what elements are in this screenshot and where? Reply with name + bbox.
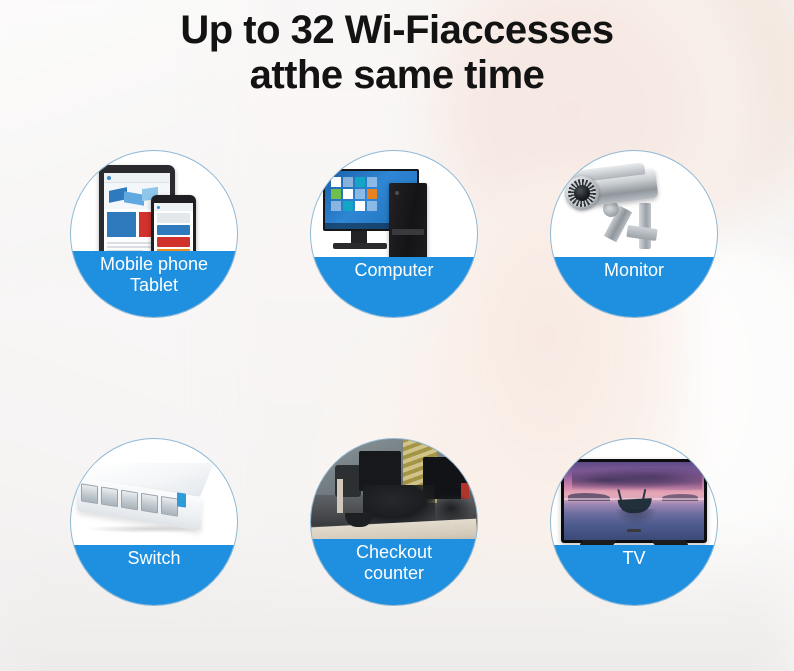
desktop-tile: [355, 189, 365, 199]
desktop-tile: [367, 177, 377, 187]
device-label: Monitor: [604, 260, 664, 281]
device-circle: Switch: [71, 439, 237, 605]
device-label-band: Mobile phone Tablet: [71, 251, 237, 317]
tv-image-reflection: [616, 509, 656, 525]
infographic-stage: Up to 32 Wi-Fiaccesses atthe same time: [0, 0, 794, 671]
device-label-band: Computer: [311, 257, 477, 317]
ethernet-port: [101, 486, 118, 507]
device-label: Checkout counter: [356, 542, 432, 584]
desktop-tile: [331, 201, 341, 211]
desktop-tile: [355, 201, 365, 211]
device-label-band: Monitor: [551, 257, 717, 317]
tower-power-led: [395, 191, 399, 195]
device-item-switch[interactable]: Switch: [71, 439, 237, 605]
device-item-tv[interactable]: TV: [551, 439, 717, 605]
headline-line-2: atthe same time: [0, 53, 794, 98]
desktop-tile: [367, 201, 377, 211]
device-item-monitor[interactable]: Monitor: [551, 151, 717, 317]
device-label: Computer: [354, 260, 433, 281]
device-label-band: Checkout counter: [311, 539, 477, 605]
device-circle: Mobile phone Tablet: [71, 151, 237, 317]
tablet-logo-dot: [107, 176, 111, 180]
device-circle: Monitor: [551, 151, 717, 317]
device-item-mobile-phone-tablet[interactable]: Mobile phone Tablet: [71, 151, 237, 317]
counter-cable-clutter: [363, 485, 435, 523]
desktop-tile: [367, 189, 377, 199]
device-item-checkout-counter[interactable]: Checkout counter: [311, 439, 477, 605]
tv-image-clouds: [572, 468, 702, 490]
desktop-tile: [331, 177, 341, 187]
ethernet-port: [81, 483, 98, 504]
headline-line-1: Up to 32 Wi-Fiaccesses: [0, 8, 794, 53]
device-grid: Mobile phone Tablet: [0, 0, 794, 671]
tower-front-strip: [392, 229, 424, 235]
phone-list-row: [157, 213, 190, 223]
device-label: Mobile phone Tablet: [100, 254, 208, 296]
device-label: TV: [622, 548, 645, 569]
device-label: Switch: [127, 548, 180, 569]
device-circle: TV: [551, 439, 717, 605]
tv-brand-logo: [627, 529, 641, 532]
camera-lens: [574, 185, 590, 201]
ethernet-port: [161, 496, 178, 517]
device-circle: Checkout counter: [311, 439, 477, 605]
switch-power-indicator: [177, 492, 186, 507]
desktop-tile: [355, 177, 365, 187]
desktop-tile: [343, 189, 353, 199]
phone-list-row: [157, 237, 190, 247]
phone-list-row: [157, 225, 190, 235]
counter-pole-stand: [337, 479, 343, 513]
phone-toolbar: [154, 203, 193, 211]
desktop-tile: [343, 201, 353, 211]
tablet-hero-shape-2: [124, 191, 144, 206]
ethernet-port: [141, 493, 158, 514]
device-item-computer[interactable]: Computer: [311, 151, 477, 317]
device-label-band: TV: [551, 545, 717, 605]
device-label-band: Switch: [71, 545, 237, 605]
monitor-stand-base: [333, 243, 387, 249]
tablet-toolbar: [104, 173, 170, 183]
tablet-card-blue: [107, 212, 136, 237]
ethernet-port: [121, 490, 138, 511]
desktop-tile: [331, 189, 341, 199]
phone-logo-dot: [157, 206, 160, 209]
desktop-tile: [343, 177, 353, 187]
headline: Up to 32 Wi-Fiaccesses atthe same time: [0, 8, 794, 98]
camera-mount-plate: [626, 225, 657, 241]
tv-bezel: [561, 459, 707, 543]
windows-desktop-tiles: [331, 177, 377, 211]
device-circle: Computer: [311, 151, 477, 317]
